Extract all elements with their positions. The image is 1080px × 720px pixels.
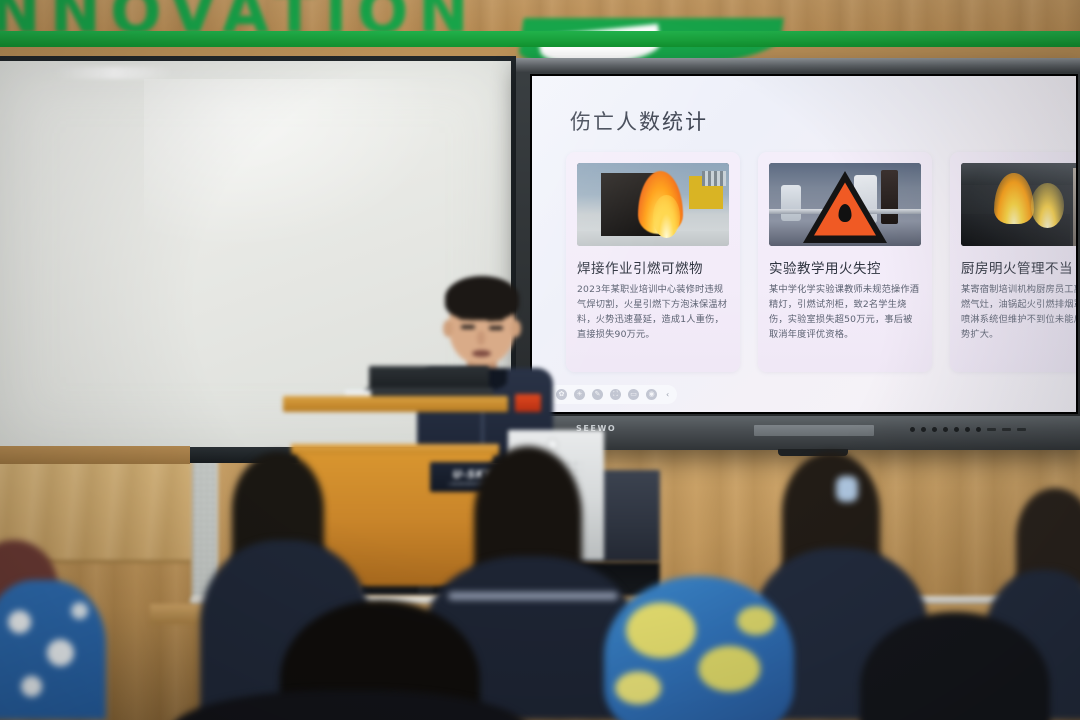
slide-title: 伤亡人数统计 [570,106,708,136]
display-top-bezel [516,58,1080,72]
settings-icon[interactable]: ✿ [556,389,567,400]
display-ir-sensor-bar [754,425,874,436]
slide-card[interactable]: 厨房明火管理不当 某寄宿制培训机构厨房员工离岗未关燃气灶，油锅起火引燃排烟罩，虽… [950,152,1076,372]
more-icon[interactable]: ◉ [646,389,657,400]
slide-card[interactable]: 实验教学用火失控 某中学化学实验课教师未规范操作酒精灯，引燃试剂柜，致2名学生烧… [758,152,932,372]
whiteboard-glare [54,67,174,79]
slide-toolbar[interactable]: ✿ ☀ ✎ ⛶ ▭ ◉ ‹ [548,385,677,404]
whiteboard-reflection [144,79,444,249]
card-title: 实验教学用火失控 [769,257,921,277]
classroom-scene: NNOVATION 伤亡人数统计 [0,0,1080,720]
brightness-icon[interactable]: ☀ [574,389,585,400]
slide-card-row: 焊接作业引燃可燃物 2023年某职业培训中心装修时违规气焊切割，火星引燃下方泡沫… [566,152,1076,372]
slide-card[interactable]: 焊接作业引燃可燃物 2023年某职业培训中心装修时违规气焊切割，火星引燃下方泡沫… [566,152,740,372]
card-title: 焊接作业引燃可燃物 [577,257,729,277]
hairclip [836,476,858,502]
card-image-welding-fire [577,163,729,246]
card-body: 某寄宿制培训机构厨房员工离岗未关燃气灶，油锅起火引燃排烟罩，虽有喷淋系统但维护不… [961,283,1076,343]
screenshot-icon[interactable]: ▭ [628,389,639,400]
audience-floral-garment [0,580,106,720]
uniform-badge [515,394,541,412]
display-port-row [910,427,1026,432]
card-body: 某中学化学实验课教师未规范操作酒精灯，引燃试剂柜，致2名学生烧伤，实验室损失超5… [769,283,921,343]
card-body: 2023年某职业培训中心装修时违规气焊切割，火星引燃下方泡沫保温材料，火势迅速蔓… [577,283,729,343]
display-panel: 伤亡人数统计 焊接作业引燃可燃物 2023年某职业培训中心装修时违规气焊切割，火… [530,74,1078,414]
collapse-toolbar-icon[interactable]: ‹ [664,390,669,399]
card-image-hazard-sign [769,163,921,246]
card-image-kitchen-fire [961,163,1076,246]
collar-trim [448,592,618,600]
smart-display: 伤亡人数统计 焊接作业引燃可燃物 2023年某职业培训中心装修时违规气焊切割，火… [516,58,1080,450]
select-icon[interactable]: ⛶ [610,389,621,400]
card-title: 厨房明火管理不当 [961,257,1076,277]
wall-green-stripe [0,31,1080,47]
slide-screen[interactable]: 伤亡人数统计 焊接作业引燃可燃物 2023年某职业培训中心装修时违规气焊切割，火… [532,76,1076,412]
pen-icon[interactable]: ✎ [592,389,603,400]
laptop-lid [369,366,489,390]
whiteboard-ledge [0,446,190,464]
